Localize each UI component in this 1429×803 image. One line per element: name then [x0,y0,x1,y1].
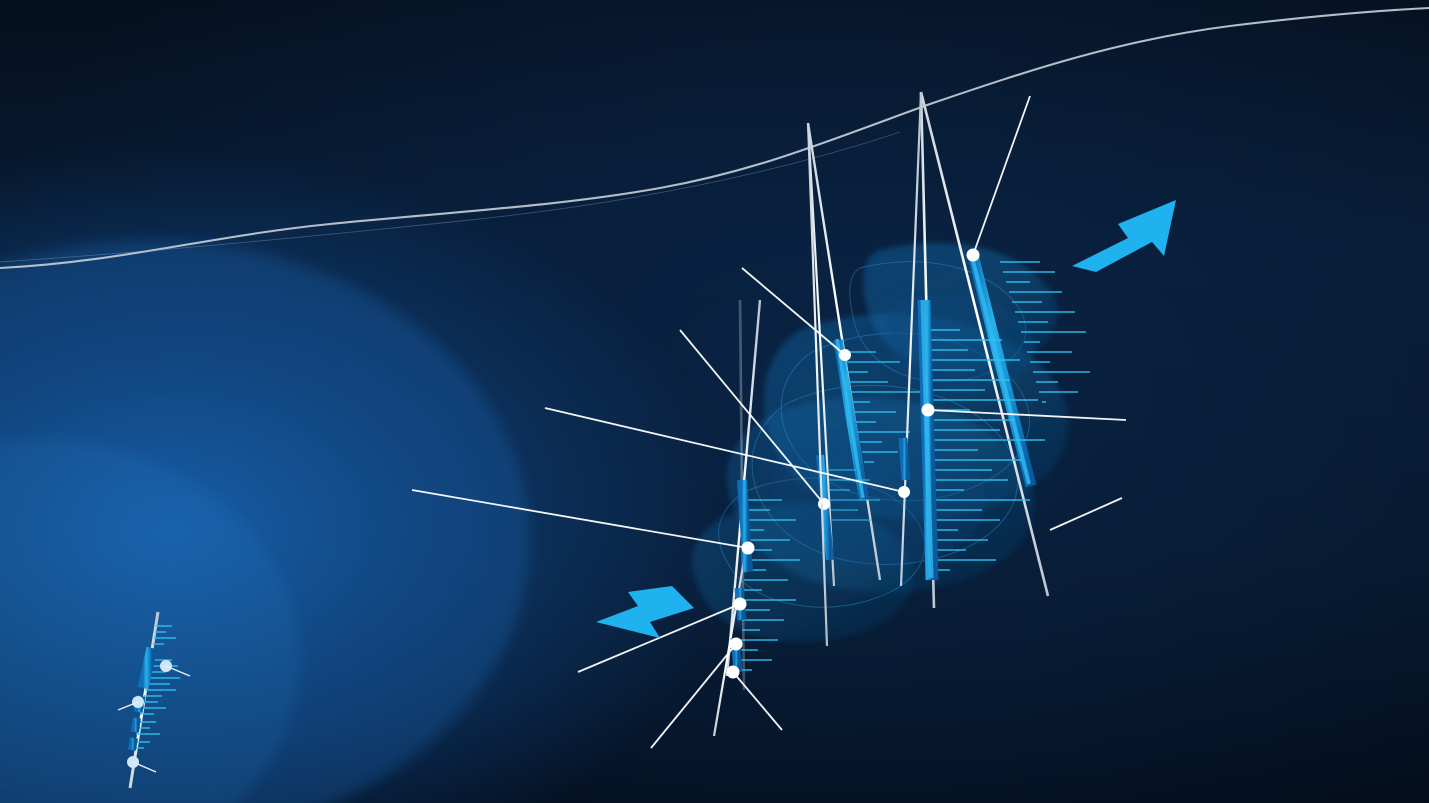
expansion-arrow-upper-right [1072,200,1176,272]
topographic-surface-line [0,8,1429,268]
section-graphics [0,0,1429,803]
vertical-section-figure: Aurora West Vertical Section Looking Eas… [0,0,1429,803]
background-glow [0,240,530,803]
